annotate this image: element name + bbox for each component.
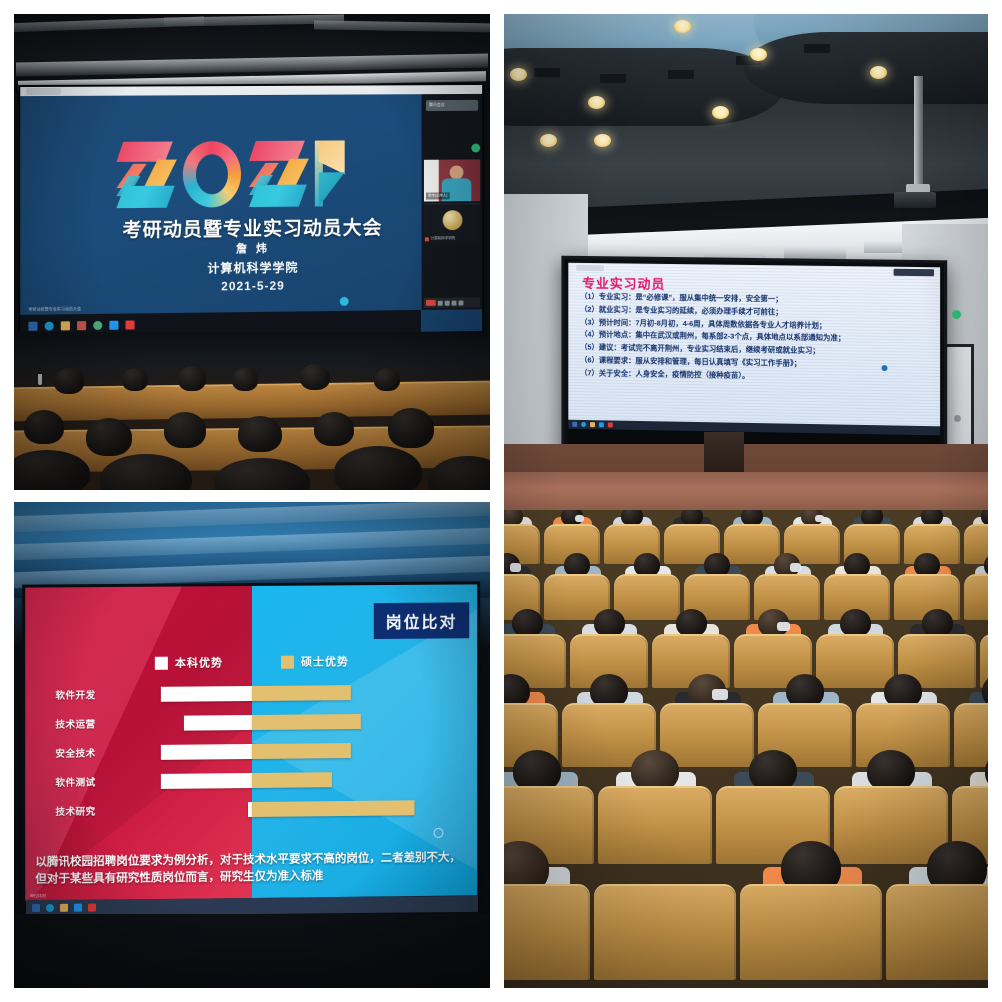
meeting-video-tile-name: 詹炜(主持人) [426, 192, 450, 199]
projected-chart-slide: 岗位比对 本科优势 硕士优势 软件开发技术运营安全技术软件测试技术研究 以腾讯校… [25, 584, 477, 900]
legend-item-undergrad: 本科优势 [155, 654, 223, 671]
chart-bar-undergrad [160, 744, 252, 760]
meeting-avatar-tile-name: 计算机科学学院 [431, 236, 455, 241]
auditorium-seat [964, 524, 988, 564]
chart-bar-master [252, 743, 351, 759]
hall-audience-area [14, 332, 490, 490]
chart-bar-undergrad [160, 686, 252, 702]
projector-pole [914, 76, 923, 194]
logo-2021 [99, 137, 361, 211]
audience-head [704, 553, 730, 577]
titlebar-tab [26, 88, 60, 95]
ceiling-cove-dark [744, 32, 988, 104]
meeting-participant-panel[interactable]: 腾讯会议 詹炜(主持人) 计算机科学学院 [421, 94, 482, 310]
chart-bar-master [252, 772, 331, 788]
slide-cursor-dot [881, 365, 887, 371]
ceiling-downlight [674, 20, 691, 33]
file-explorer-icon[interactable] [61, 321, 70, 330]
chart-category-label: 安全技术 [55, 745, 129, 760]
chart-category-label: 技术研究 [55, 803, 129, 818]
chart-bar-undergrad [184, 715, 252, 731]
audience-head [24, 410, 64, 444]
door-knob-icon[interactable] [954, 415, 961, 422]
meeting-icon[interactable] [74, 904, 82, 912]
audience-seating [504, 510, 988, 988]
audience-head [334, 446, 422, 490]
slide-title: 专业实习动员 [582, 273, 665, 293]
face-mask [777, 622, 790, 632]
legend-item-master: 硕士优势 [281, 653, 349, 670]
audience-head [564, 553, 590, 577]
more-options-icon[interactable] [458, 300, 463, 305]
auditorium-seat [954, 703, 988, 767]
audience-head [178, 366, 206, 391]
ceiling-band [14, 527, 490, 561]
audience-head [840, 609, 871, 637]
start-icon[interactable] [572, 422, 577, 427]
wps-icon[interactable] [608, 422, 613, 427]
wps-icon[interactable] [125, 320, 134, 329]
ceiling-beam [314, 20, 490, 32]
audience-head [86, 418, 132, 456]
face-mask [790, 563, 801, 571]
chart-category-label: 软件开发 [55, 687, 129, 702]
ceiling-band [14, 502, 490, 533]
meeting-panel-header-label: 腾讯会议 [426, 100, 478, 110]
meeting-avatar-tile[interactable]: 计算机科学学院 [424, 203, 480, 243]
file-explorer-icon[interactable] [60, 904, 68, 912]
auditorium-seat [614, 574, 680, 620]
ceiling-downlight [750, 48, 767, 61]
audience-head [164, 412, 206, 448]
edge-icon[interactable] [45, 321, 54, 330]
panel-position-comparison-chart: 岗位比对 本科优势 硕士优势 软件开发技术运营安全技术软件测试技术研究 以腾讯校… [14, 502, 490, 988]
chart-bar-master [252, 800, 415, 817]
slide-cursor-dot [340, 297, 349, 306]
meeting-icon[interactable] [599, 422, 604, 427]
auditorium-seat [886, 884, 988, 980]
presenter-head [450, 165, 464, 179]
logo-digit-1 [313, 138, 347, 208]
camera-icon[interactable] [445, 300, 450, 305]
slide-window-badge [894, 269, 934, 277]
ceiling-downlight [510, 68, 527, 81]
slide-bullet: （2）就业实习：是专业实习的延续，必须办理手续才可前往； [580, 305, 932, 319]
leave-meeting-button[interactable] [426, 300, 436, 306]
audience-head [374, 368, 400, 391]
photo-collage: 考研动员暨专业实习动员大会 詹 炜 计算机科学学院 2021-5-29 腾讯会议… [0, 0, 1002, 1002]
edge-icon[interactable] [46, 904, 54, 912]
taskbar-window-label: 考研动员暨专业实习动员大会 [28, 306, 81, 313]
audience-head [300, 364, 330, 390]
meeting-icon[interactable] [109, 320, 118, 329]
slide-badge-title: 岗位比对 [374, 602, 470, 639]
auditorium-seat [504, 884, 590, 980]
ceiling-slat [534, 68, 560, 77]
panel-auditorium-audience: 专业实习动员 （1）专业实习：是“必修课”，服从集中统一安排，安全第一；（2）就… [504, 14, 988, 988]
ceiling-downlight [594, 134, 611, 147]
logo-digit-2 [114, 139, 176, 210]
legend-swatch-gold [281, 655, 294, 668]
projected-slide: 专业实习动员 （1）专业实习：是“必修课”，服从集中统一安排，安全第一；（2）就… [568, 263, 940, 427]
ceiling-downlight [540, 134, 557, 147]
dark-foreground [14, 914, 490, 988]
panel-lecture-hall-title-slide: 考研动员暨专业实习动员大会 詹 炜 计算机科学学院 2021-5-29 腾讯会议… [14, 14, 490, 490]
auditorium-seat [724, 524, 780, 564]
chart-bar-master [252, 685, 351, 701]
slide-department: 计算机科学学院 [20, 257, 482, 279]
meeting-toolbar[interactable] [424, 297, 480, 308]
logo-digit-0 [181, 139, 243, 210]
avatar [442, 210, 462, 230]
chart-category-label: 软件测试 [55, 774, 129, 789]
audience-head [634, 553, 660, 577]
meeting-panel-header: 腾讯会议 [426, 100, 478, 111]
auditorium-seat [816, 634, 894, 688]
ceiling-slat [804, 44, 830, 53]
audience-head [238, 416, 282, 452]
people-icon[interactable] [77, 321, 86, 330]
slide-bullet-list: （1）专业实习：是“必修课”，服从集中统一安排，安全第一；（2）就业实习：是专业… [580, 293, 932, 388]
mic-icon[interactable] [438, 300, 443, 305]
chrome-icon[interactable] [93, 320, 102, 329]
start-icon[interactable] [28, 321, 37, 330]
chart-caption: 以腾讯校园招聘岗位要求为例分析，对于技术水平要求不高的岗位，二者差别不大，但对于… [35, 849, 467, 888]
face-mask [815, 515, 824, 522]
legend-label-undergrad: 本科优势 [175, 654, 223, 670]
auditorium-seat [834, 786, 948, 864]
ceiling-slat [668, 70, 694, 79]
ceiling-downlight [870, 66, 887, 79]
online-status-icon [952, 310, 961, 319]
audience-head [512, 609, 543, 637]
chart-row: 技术研究 [25, 792, 477, 827]
auditorium-seat [740, 884, 882, 980]
slide-bullet: （1）专业实习：是“必修课”，服从集中统一安排，安全第一； [580, 293, 932, 306]
audience-head [122, 368, 148, 391]
ceiling-slat [600, 74, 626, 83]
audience-head [676, 609, 707, 637]
ceiling-projector-icon [894, 192, 936, 208]
face-mask [575, 515, 584, 522]
audience-head [232, 368, 258, 391]
water-bottle [38, 374, 42, 385]
slide-date: 2021-5-29 [20, 276, 482, 295]
slide-presenter: 詹 炜 [20, 238, 482, 259]
file-explorer-icon[interactable] [590, 422, 595, 427]
chart-category-label: 技术运营 [55, 716, 129, 731]
auditorium-seat [598, 786, 712, 864]
projection-screen: 考研动员暨专业实习动员大会 詹 炜 计算机科学学院 2021-5-29 腾讯会议… [20, 85, 482, 337]
taskbar-window-label: 岗位比对 [30, 893, 46, 899]
logo-digit-2b [247, 139, 309, 209]
chart-plot-area: 软件开发技术运营安全技术软件测试技术研究 [25, 676, 477, 830]
presentation-cursor-icon [433, 828, 443, 838]
face-mask [510, 563, 521, 571]
start-icon[interactable] [32, 904, 40, 912]
window-titlebar [20, 85, 482, 96]
hall-ceiling [14, 14, 490, 92]
slide-window-tab [576, 265, 604, 271]
chart-bar-undergrad [160, 773, 252, 789]
audience-head [388, 408, 434, 448]
online-status-icon [471, 144, 480, 153]
blue-ceiling [14, 502, 490, 598]
audience-head [914, 553, 940, 577]
audience-head [54, 368, 84, 394]
audience-head [844, 553, 870, 577]
legend-swatch-white [155, 656, 168, 669]
slide-bullet: （7）关于安全：人身安全，疫情防控（接种疫苗）。 [580, 369, 932, 383]
audience-head [922, 609, 953, 637]
legend-label-master: 硕士优势 [301, 653, 349, 669]
chart-bar-master [252, 713, 361, 729]
edge-icon[interactable] [581, 422, 586, 427]
ceiling-downlight [712, 106, 729, 119]
auditorium-seat [964, 574, 988, 620]
audience-head [314, 412, 354, 446]
wps-icon[interactable] [88, 903, 96, 911]
audience-head [594, 609, 625, 637]
face-mask [712, 689, 728, 701]
meeting-video-tile[interactable]: 詹炜(主持人) [424, 159, 480, 201]
mic-muted-icon [425, 237, 429, 241]
ceiling-downlight [588, 96, 605, 109]
soffit-fin [784, 246, 846, 259]
share-screen-icon[interactable] [452, 300, 457, 305]
auditorium-seat [594, 884, 736, 980]
